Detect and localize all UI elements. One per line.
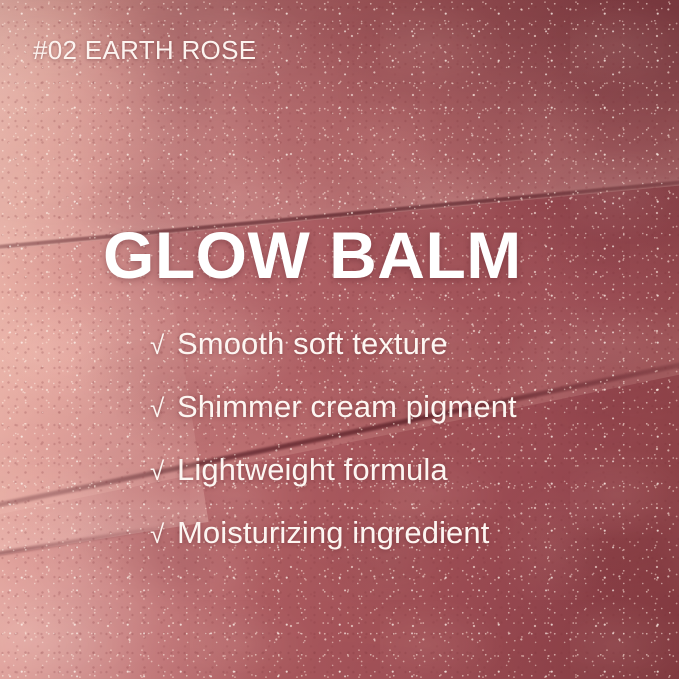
check-icon: √ bbox=[150, 330, 177, 361]
product-banner: #02 EARTH ROSE GLOW BALM √ Smooth soft t… bbox=[0, 0, 679, 679]
banner-content: #02 EARTH ROSE GLOW BALM √ Smooth soft t… bbox=[0, 0, 679, 679]
feature-label: Moisturizing ingredient bbox=[177, 515, 489, 551]
shade-name-label: #02 EARTH ROSE bbox=[33, 35, 256, 66]
feature-list: √ Smooth soft texture √ Shimmer cream pi… bbox=[150, 326, 517, 578]
check-icon: √ bbox=[150, 519, 177, 550]
list-item: √ Moisturizing ingredient bbox=[150, 515, 517, 578]
page-title: GLOW BALM bbox=[103, 222, 522, 288]
list-item: √ Lightweight formula bbox=[150, 452, 517, 515]
check-icon: √ bbox=[150, 393, 177, 424]
list-item: √ Smooth soft texture bbox=[150, 326, 517, 389]
list-item: √ Shimmer cream pigment bbox=[150, 389, 517, 452]
check-icon: √ bbox=[150, 456, 177, 487]
feature-label: Shimmer cream pigment bbox=[177, 389, 517, 425]
feature-label: Lightweight formula bbox=[177, 452, 448, 488]
feature-label: Smooth soft texture bbox=[177, 326, 448, 362]
